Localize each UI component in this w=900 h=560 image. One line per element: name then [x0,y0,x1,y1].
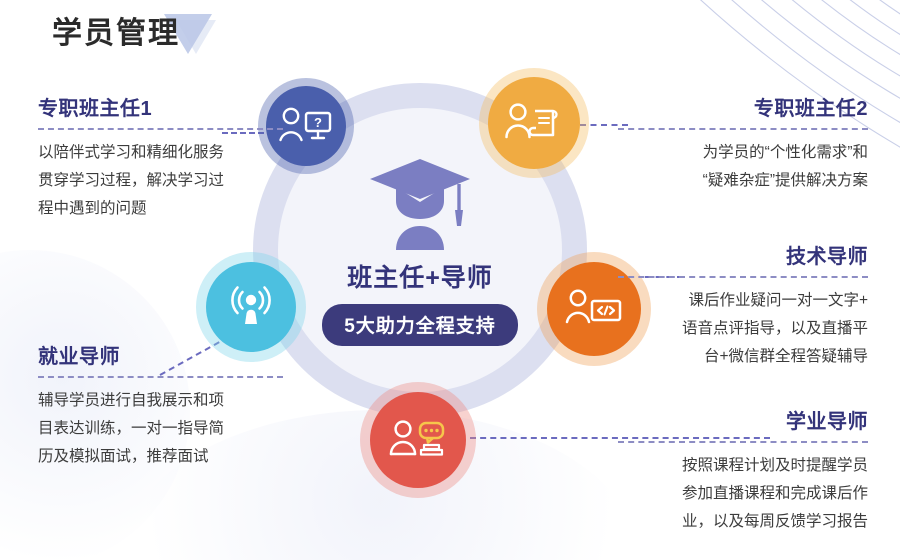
info-divider [38,376,283,378]
info-block-fulltime-1: 专职班主任1 以陪伴式学习和精细化服务 贯穿学习过程，解决学习过 程中遇到的问题 [38,92,283,223]
info-line: 台+微信群全程答疑辅导 [618,343,868,371]
person-broadcast-icon [227,283,275,331]
info-line: “疑难杂症”提供解决方案 [618,167,868,195]
graduation-cap-person-icon [366,154,474,252]
info-line: 语音点评指导，以及直播平 [618,315,868,343]
info-body: 课后作业疑问一对一文字+ 语音点评指导，以及直播平 台+微信群全程答疑辅导 [618,287,868,371]
info-heading: 专职班主任2 [618,92,868,121]
info-block-career: 就业导师 辅导学员进行自我展示和项 目表达训练，一对一指导简 历及模拟面试，推荐… [38,340,283,471]
page-title-group: 学员管理 [52,8,180,52]
info-line: 历及模拟面试，推荐面试 [38,443,283,471]
info-block-tech: 技术导师 课后作业疑问一对一文字+ 语音点评指导，以及直播平 台+微信群全程答疑… [618,240,868,371]
info-line: 业，以及每周反馈学习报告 [618,508,868,536]
info-heading: 学业导师 [618,405,868,434]
info-divider [618,128,868,130]
info-divider [618,276,868,278]
info-block-fulltime-2: 专职班主任2 为学员的“个性化需求”和 “疑难杂症”提供解决方案 [618,92,868,195]
info-line: 参加直播课程和完成课后作 [618,480,868,508]
info-block-academic: 学业导师 按照课程计划及时提醒学员 参加直播课程和完成课后作 业，以及每周反馈学… [618,405,868,536]
info-body: 以陪伴式学习和精细化服务 贯穿学习过程，解决学习过 程中遇到的问题 [38,139,283,223]
info-line: 辅导学员进行自我展示和项 [38,387,283,415]
info-line: 贯穿学习过程，解决学习过 [38,167,283,195]
infographic-canvas: 学员管理 ? [0,0,900,560]
info-line: 目表达训练，一对一指导简 [38,415,283,443]
info-heading: 专职班主任1 [38,92,283,121]
node-academic[interactable] [360,382,476,498]
info-divider [618,441,868,443]
person-code-screen-icon [565,288,623,330]
info-line: 为学员的“个性化需求”和 [618,139,868,167]
info-divider [38,128,283,130]
person-chat-books-icon [389,418,447,462]
info-body: 为学员的“个性化需求”和 “疑难杂症”提供解决方案 [618,139,868,195]
center-badge: 5大助力全程支持 [322,304,518,346]
info-line: 按照课程计划及时提醒学员 [618,452,868,480]
page-title: 学员管理 [52,8,180,52]
info-line: 课后作业疑问一对一文字+ [618,287,868,315]
info-line: 以陪伴式学习和精细化服务 [38,139,283,167]
node-core [370,392,466,488]
info-body: 按照课程计划及时提醒学员 参加直播课程和完成课后作 业，以及每周反馈学习报告 [618,452,868,536]
info-line: 程中遇到的问题 [38,195,283,223]
info-heading: 技术导师 [618,240,868,269]
info-heading: 就业导师 [38,340,283,369]
info-body: 辅导学员进行自我展示和项 目表达训练，一对一指导简 历及模拟面试，推荐面试 [38,387,283,471]
center-title: 班主任+导师 [347,258,493,294]
center-content: 班主任+导师 5大助力全程支持 [278,108,562,392]
